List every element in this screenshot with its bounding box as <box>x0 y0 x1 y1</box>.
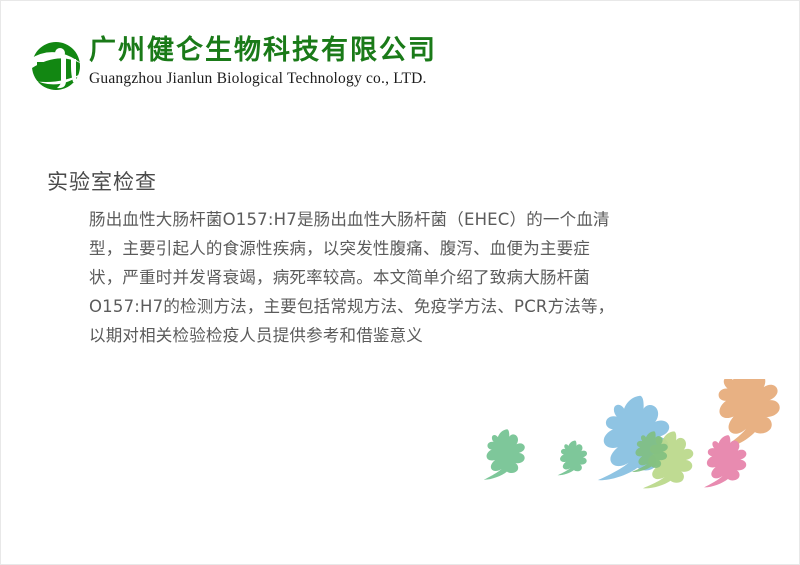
company-name-block: 广州健仑生物科技有限公司 Guangzhou Jianlun Biologica… <box>89 35 437 89</box>
jl-monogram-logo-icon <box>29 37 85 95</box>
body-paragraph: 肠出血性大肠杆菌O157:H7是肠出血性大肠杆菌（EHEC）的一个血清 型，主要… <box>89 205 707 350</box>
paragraph-line: O157:H7的检测方法，主要包括常规方法、免疫学方法、PCR方法等， <box>89 292 707 321</box>
paragraph-line: 状，严重时并发肾衰竭，病死率较高。本文简单介绍了致病大肠杆菌 <box>89 263 707 292</box>
company-branding: 广州健仑生物科技有限公司 Guangzhou Jianlun Biologica… <box>29 35 437 95</box>
ginkgo-leaf-cluster-decoration <box>469 379 789 499</box>
leaf-green-tiny-mid-shape <box>554 439 589 475</box>
section-title: 实验室检查 <box>47 166 157 196</box>
paragraph-line: 肠出血性大肠杆菌O157:H7是肠出血性大肠杆菌（EHEC）的一个血清 <box>89 205 707 234</box>
paragraph-line: 型，主要引起人的食源性疾病，以突发性腹痛、腹泻、血便为主要症 <box>89 234 707 263</box>
leaf-orange-large-shape <box>700 379 789 450</box>
leaf-green-small-left-shape <box>477 427 528 480</box>
company-name-cn: 广州健仑生物科技有限公司 <box>89 35 437 66</box>
paragraph-line: 以期对相关检验检疫人员提供参考和借鉴意义 <box>89 321 707 350</box>
company-name-en: Guangzhou Jianlun Biological Technology … <box>89 69 437 89</box>
slide-canvas: 广州健仑生物科技有限公司 Guangzhou Jianlun Biologica… <box>0 0 800 565</box>
